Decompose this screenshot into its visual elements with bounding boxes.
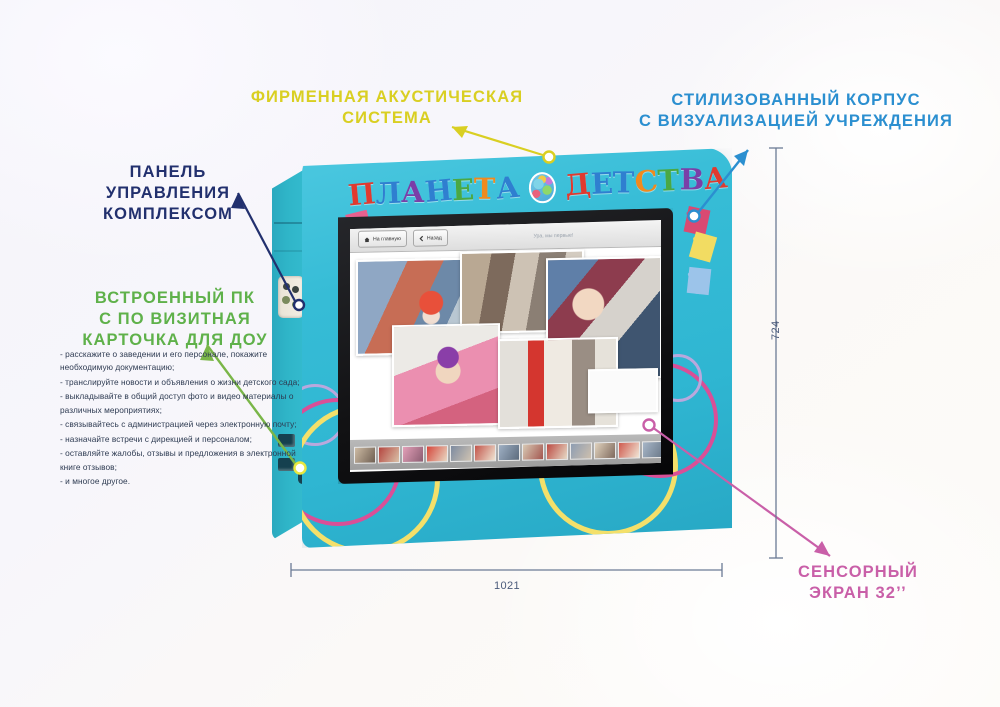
filmstrip-thumb[interactable] [450, 444, 472, 461]
filmstrip-thumb[interactable] [498, 443, 520, 460]
brand-letters-left: ПЛАНЕТА [347, 170, 520, 212]
filmstrip-thumb[interactable] [474, 444, 496, 461]
brand-letter: Е [451, 172, 475, 207]
home-icon [364, 236, 370, 242]
filmstrip-thumb[interactable] [354, 446, 376, 463]
callout-label-touchscreen: СЕНСОРНЫЙ ЭКРАН 32’’ [768, 562, 948, 604]
feature-bullet: - назначайте встречи с дирекцией и персо… [60, 433, 310, 446]
callout-label-control-panel: ПАНЕЛЬ УПРАВЛЕНИЯ КОМПЛЕКСОМ [68, 162, 268, 225]
chevron-left-icon [419, 235, 424, 241]
app-page-title: Ура, мы первые! [454, 230, 653, 240]
brand-letters-right: ДЕТСТВА [564, 161, 728, 202]
touch-screen-display[interactable]: На главную Назад Ура, мы первые! [350, 220, 661, 472]
brand-letter: Т [613, 165, 635, 199]
feature-bullet: - расскажите о заведении и его персонале… [60, 348, 310, 375]
brand-letter: Л [375, 176, 402, 211]
feature-bullet: - и многое другое. [60, 475, 310, 488]
brand-letter: А [494, 170, 521, 206]
brand-letter: П [347, 176, 377, 212]
photo-gallery [350, 244, 661, 436]
filmstrip-scroller[interactable] [350, 434, 661, 470]
kiosk-front-face: ПЛАНЕТА ДЕТСТВА [302, 148, 732, 548]
back-button-label: Назад [427, 234, 442, 240]
filmstrip-thumb[interactable] [570, 442, 592, 459]
callout-label-builtin-pc: ВСТРОЕННЫЙ ПК С ПО ВИЗИТНАЯ КАРТОЧКА ДЛЯ… [40, 288, 310, 351]
brand-letter: Е [590, 166, 614, 201]
dimension-height [769, 148, 783, 558]
filmstrip-thumb[interactable] [402, 445, 424, 462]
touch-screen-bezel: На главную Назад Ура, мы первые! [338, 208, 673, 484]
gallery-photo[interactable] [588, 368, 658, 413]
brand-letter: С [633, 163, 659, 199]
dimension-height-label: 724 [770, 320, 782, 340]
filmstrip-thumb[interactable] [594, 441, 616, 458]
infographic-stage: ПЛАНЕТА ДЕТСТВА [0, 0, 1000, 707]
feature-bullet: - транслируйте новости и объявления о жи… [60, 376, 310, 389]
home-button-label: На главную [373, 235, 401, 242]
brand-letter: В [679, 162, 704, 196]
callout-label-body: СТИЛИЗОВАННЫЙ КОРПУС С ВИЗУАЛИЗАЦИЕЙ УЧР… [598, 90, 994, 132]
brand-letter: А [401, 175, 425, 209]
filmstrip-thumb[interactable] [618, 441, 640, 458]
brand-letter: А [702, 160, 729, 196]
brand-letter: Н [423, 173, 453, 209]
dimension-width-label: 1021 [494, 580, 520, 592]
filmstrip-thumb[interactable] [378, 446, 400, 463]
back-button[interactable]: Назад [413, 229, 448, 247]
feature-bullet-list: - расскажите о заведении и его персонале… [60, 348, 310, 489]
callout-label-acoustic: ФИРМЕННАЯ АКУСТИЧЕСКАЯ СИСТЕМА [232, 87, 542, 129]
feature-bullet: - оставляйте жалобы, отзывы и предложени… [60, 447, 310, 474]
gallery-photo[interactable] [392, 323, 500, 427]
dimension-width [291, 563, 722, 577]
home-button[interactable]: На главную [358, 229, 407, 247]
filmstrip-thumb[interactable] [426, 445, 448, 462]
brand-letter: Т [657, 163, 680, 198]
feature-bullet: - связывайтесь с администрацией через эл… [60, 418, 310, 431]
filmstrip-thumb[interactable] [642, 440, 661, 457]
brand-letter: Т [474, 172, 496, 206]
handprint-icon [687, 267, 712, 295]
filmstrip-thumb[interactable] [522, 443, 544, 460]
filmstrip-thumb[interactable] [546, 442, 568, 459]
handprint-icon [689, 231, 717, 262]
kiosk-illustration: ПЛАНЕТА ДЕТСТВА [272, 148, 732, 558]
brand-letter: Д [564, 166, 593, 202]
feature-bullet: - выкладывайте в общий доступ фото и вид… [60, 390, 310, 417]
globe-earth-icon [528, 172, 556, 204]
